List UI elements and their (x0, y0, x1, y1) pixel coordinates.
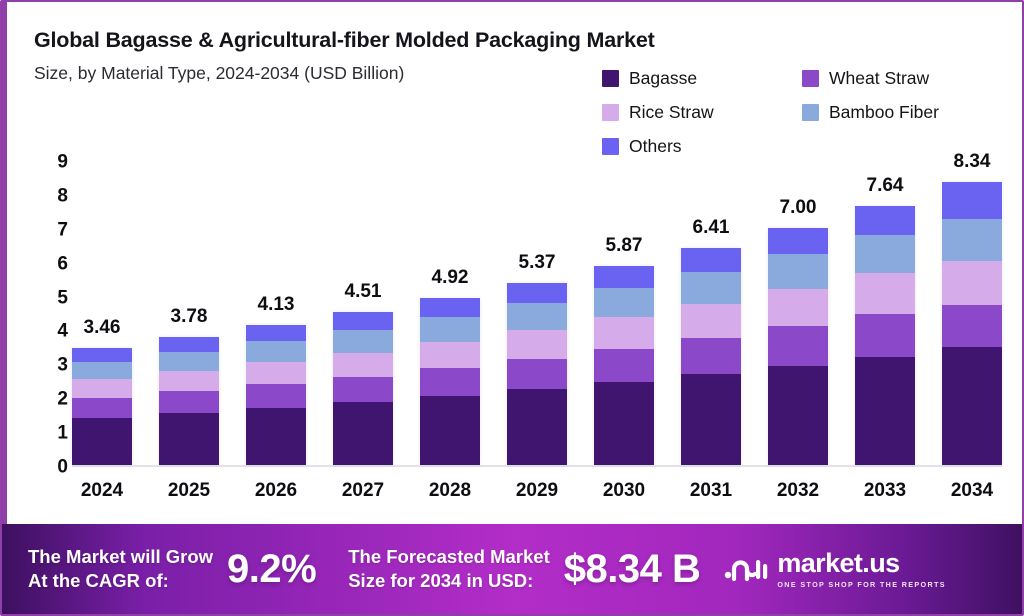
bar-segment-others[interactable] (507, 283, 567, 303)
cagr-label-line1: The Market will Grow (28, 546, 213, 567)
bar-segment-bagasse[interactable] (855, 357, 915, 465)
bar-segment-bagasse[interactable] (159, 413, 219, 465)
bar-value-label: 5.87 (606, 235, 643, 257)
x-axis-tick-label: 2032 (768, 480, 828, 502)
bar-column[interactable]: 6.41 (681, 162, 741, 465)
x-axis-tick-label: 2034 (942, 480, 1002, 502)
stacked-bar[interactable] (681, 248, 741, 465)
stacked-bar[interactable] (72, 348, 132, 465)
y-axis-tick-label: 7 (57, 220, 68, 239)
x-axis-tick-label: 2029 (507, 480, 567, 502)
x-axis-tick-label: 2030 (594, 480, 654, 502)
bar-segment-rice-straw[interactable] (681, 304, 741, 338)
bar-segment-bagasse[interactable] (507, 389, 567, 465)
x-axis-baseline (72, 465, 1002, 467)
y-axis-tick-label: 4 (57, 322, 68, 341)
bar-segment-bamboo-fiber[interactable] (72, 362, 132, 380)
bar-segment-others[interactable] (855, 206, 915, 234)
x-axis-tick-label: 2031 (681, 480, 741, 502)
bar-segment-wheat-straw[interactable] (246, 384, 306, 407)
stacked-bar[interactable] (333, 312, 393, 465)
legend-swatch-icon (602, 70, 619, 87)
bar-segment-bagasse[interactable] (594, 382, 654, 465)
footer-banner: The Market will Grow At the CAGR of: 9.2… (2, 524, 1024, 614)
bar-segment-rice-straw[interactable] (72, 379, 132, 398)
bar-segment-rice-straw[interactable] (855, 273, 915, 314)
bar-segment-bagasse[interactable] (768, 366, 828, 465)
market-us-logo-icon (724, 552, 768, 587)
legend-item[interactable]: Others (602, 136, 802, 157)
page-title: Global Bagasse & Agricultural-fiber Mold… (34, 28, 655, 53)
bar-segment-bamboo-fiber[interactable] (681, 272, 741, 304)
bar-segment-others[interactable] (942, 182, 1002, 219)
brand-logo[interactable]: market.us ONE STOP SHOP FOR THE REPORTS (724, 550, 946, 589)
bar-value-label: 8.34 (954, 151, 991, 173)
bar-segment-bamboo-fiber[interactable] (594, 288, 654, 317)
bar-segment-others[interactable] (72, 348, 132, 362)
bar-segment-others[interactable] (681, 248, 741, 272)
bar-column[interactable]: 4.13 (246, 162, 306, 465)
bar-segment-rice-straw[interactable] (420, 342, 480, 368)
y-axis-tick-label: 0 (57, 458, 68, 477)
bar-segment-wheat-straw[interactable] (594, 349, 654, 382)
x-axis-labels: 2024202520262027202820292030203120322033… (72, 480, 1002, 502)
bar-segment-bagasse[interactable] (942, 347, 1002, 465)
bar-value-label: 7.64 (867, 175, 904, 197)
bar-segment-wheat-straw[interactable] (942, 305, 1002, 347)
y-axis-tick-label: 6 (57, 254, 68, 273)
bar-segment-bagasse[interactable] (420, 396, 480, 465)
bar-segment-others[interactable] (420, 298, 480, 317)
bar-segment-rice-straw[interactable] (594, 317, 654, 349)
bar-column[interactable]: 3.78 (159, 162, 219, 465)
bar-segment-others[interactable] (246, 325, 306, 341)
bar-segment-wheat-straw[interactable] (681, 338, 741, 374)
stacked-bar[interactable] (594, 266, 654, 465)
bar-segment-wheat-straw[interactable] (855, 314, 915, 357)
cagr-value: 9.2% (227, 547, 316, 592)
bar-segment-bamboo-fiber[interactable] (333, 330, 393, 353)
stacked-bar[interactable] (768, 228, 828, 465)
legend-item[interactable]: Wheat Straw (802, 68, 1002, 89)
brand-name: market.us (777, 550, 946, 577)
x-axis-tick-label: 2028 (420, 480, 480, 502)
bar-segment-bagasse[interactable] (333, 402, 393, 465)
bar-value-label: 4.51 (345, 281, 382, 303)
legend-swatch-icon (802, 104, 819, 121)
bar-segment-bagasse[interactable] (72, 418, 132, 465)
bar-segment-bamboo-fiber[interactable] (768, 254, 828, 289)
cagr-label: The Market will Grow At the CAGR of: (28, 545, 213, 592)
bar-segment-bagasse[interactable] (246, 408, 306, 465)
bar-segment-wheat-straw[interactable] (507, 359, 567, 389)
y-axis-tick-label: 2 (57, 390, 68, 409)
x-axis-tick-label: 2024 (72, 480, 132, 502)
y-axis-tick-label: 1 (57, 424, 68, 443)
bar-segment-wheat-straw[interactable] (159, 391, 219, 412)
y-axis-tick-label: 9 (57, 153, 68, 172)
bar-group: 3.463.784.134.514.925.375.876.417.007.64… (72, 162, 1002, 465)
chart-legend: BagasseWheat StrawRice StrawBamboo Fiber… (602, 68, 1002, 157)
bar-segment-rice-straw[interactable] (159, 371, 219, 391)
bar-value-label: 4.92 (432, 267, 469, 289)
bar-segment-rice-straw[interactable] (768, 289, 828, 326)
bar-segment-wheat-straw[interactable] (420, 368, 480, 396)
bar-segment-bamboo-fiber[interactable] (159, 352, 219, 371)
forecast-label: The Forecasted Market Size for 2034 in U… (348, 545, 550, 592)
bar-column[interactable]: 5.37 (507, 162, 567, 465)
x-axis-tick-label: 2027 (333, 480, 393, 502)
bar-segment-bagasse[interactable] (681, 374, 741, 465)
stacked-bar[interactable] (855, 206, 915, 465)
chart-header: Global Bagasse & Agricultural-fiber Mold… (34, 28, 655, 84)
bar-segment-others[interactable] (333, 312, 393, 330)
stacked-bar[interactable] (420, 298, 480, 465)
plot-area: 0123456789 3.463.784.134.514.925.375.876… (72, 162, 1002, 467)
bar-segment-bamboo-fiber[interactable] (420, 317, 480, 342)
legend-item[interactable]: Rice Straw (602, 102, 802, 123)
x-axis-tick-label: 2026 (246, 480, 306, 502)
bar-segment-bamboo-fiber[interactable] (942, 219, 1002, 261)
brand-tagline: ONE STOP SHOP FOR THE REPORTS (777, 580, 946, 589)
bar-column[interactable]: 7.00 (768, 162, 828, 465)
bar-segment-bamboo-fiber[interactable] (855, 235, 915, 273)
bar-segment-others[interactable] (159, 337, 219, 352)
cagr-label-line2: At the CAGR of: (28, 570, 169, 591)
stacked-bar[interactable] (246, 325, 306, 465)
bar-value-label: 4.13 (258, 294, 295, 316)
legend-item[interactable]: Bamboo Fiber (802, 102, 1002, 123)
bar-value-label: 5.37 (519, 252, 556, 274)
bar-segment-rice-straw[interactable] (942, 261, 1002, 305)
forecast-value: $8.34 B (564, 547, 701, 592)
bar-segment-wheat-straw[interactable] (333, 377, 393, 402)
y-axis-tick-label: 5 (57, 288, 68, 307)
chart-subtitle: Size, by Material Type, 2024-2034 (USD B… (34, 63, 655, 84)
bar-segment-wheat-straw[interactable] (768, 326, 828, 366)
bar-column[interactable]: 7.64 (855, 162, 915, 465)
bar-segment-rice-straw[interactable] (246, 362, 306, 384)
bar-segment-rice-straw[interactable] (333, 353, 393, 377)
forecast-label-line2: Size for 2034 in USD: (348, 570, 533, 591)
bar-segment-bamboo-fiber[interactable] (246, 341, 306, 362)
legend-swatch-icon (602, 138, 619, 155)
y-axis-labels: 0123456789 (42, 162, 68, 467)
bar-segment-others[interactable] (768, 228, 828, 254)
legend-item-label: Bamboo Fiber (829, 102, 939, 123)
bar-column[interactable]: 8.34 (942, 162, 1002, 465)
bar-value-label: 6.41 (693, 217, 730, 239)
bar-segment-others[interactable] (594, 266, 654, 288)
stacked-bar[interactable] (942, 182, 1002, 465)
bar-segment-rice-straw[interactable] (507, 330, 567, 359)
legend-swatch-icon (802, 70, 819, 87)
chart-card: Global Bagasse & Agricultural-fiber Mold… (0, 0, 1024, 616)
x-axis-tick-label: 2025 (159, 480, 219, 502)
bar-value-label: 3.78 (171, 306, 208, 328)
legend-item-label: Rice Straw (629, 102, 714, 123)
bar-column[interactable]: 3.46 (72, 162, 132, 465)
stacked-bar[interactable] (507, 283, 567, 465)
bar-value-label: 3.46 (84, 317, 121, 339)
bar-column[interactable]: 4.92 (420, 162, 480, 465)
legend-item[interactable]: Bagasse (602, 68, 802, 89)
bar-segment-wheat-straw[interactable] (72, 398, 132, 418)
x-axis-tick-label: 2033 (855, 480, 915, 502)
legend-item-label: Wheat Straw (829, 68, 929, 89)
forecast-label-line1: The Forecasted Market (348, 546, 550, 567)
bar-segment-bamboo-fiber[interactable] (507, 303, 567, 330)
y-axis-tick-label: 8 (57, 186, 68, 205)
legend-item-label: Others (629, 136, 682, 157)
bar-column[interactable]: 5.87 (594, 162, 654, 465)
legend-swatch-icon (602, 104, 619, 121)
brand-logo-text: market.us ONE STOP SHOP FOR THE REPORTS (777, 550, 946, 589)
y-axis-tick-label: 3 (57, 356, 68, 375)
legend-item-label: Bagasse (629, 68, 697, 89)
bar-value-label: 7.00 (780, 197, 817, 219)
bar-column[interactable]: 4.51 (333, 162, 393, 465)
stacked-bar[interactable] (159, 337, 219, 465)
